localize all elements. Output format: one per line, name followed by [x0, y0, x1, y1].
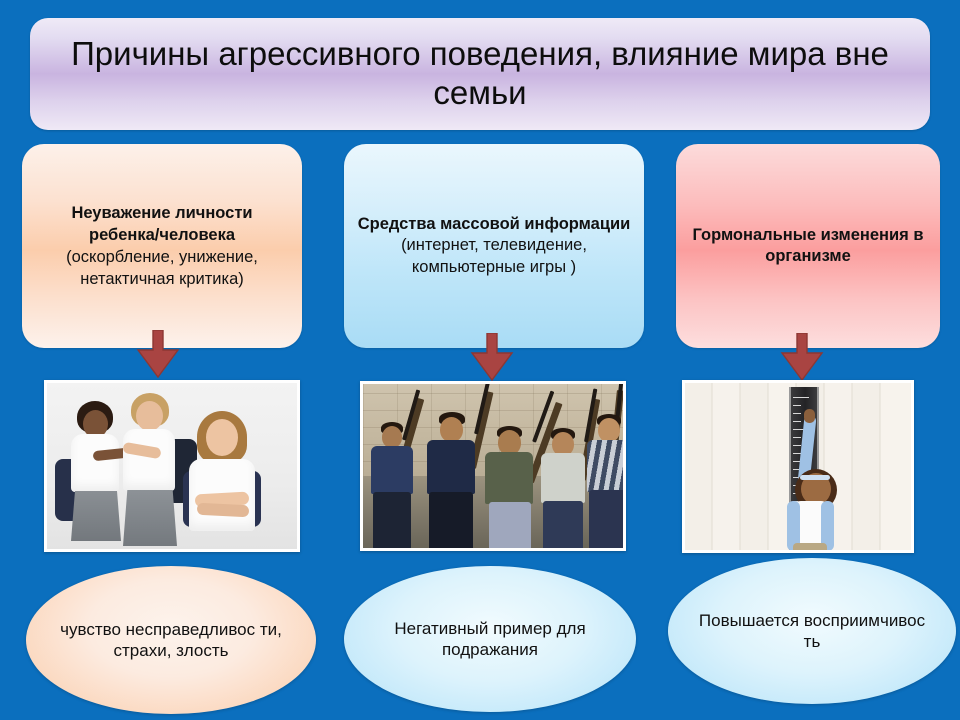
slide-title-box: Причины агрессивного поведения, влияние … [30, 18, 930, 130]
cause-card-hormonal-bold: Гормональные изменения в организме [692, 226, 923, 265]
cause-card-disrespect: Неуважение личности ребенка/человека (ос… [22, 144, 302, 348]
cause-card-hormonal: Гормональные изменения в организме [676, 144, 940, 348]
outcome-increased-sensitivity: Повышается восприимчивос ть [668, 558, 956, 704]
arrow-down-icon [469, 333, 515, 381]
outcome-negative-role-model-text: Негативный пример для подражания [370, 618, 610, 661]
slide-canvas: Причины агрессивного поведения, влияние … [0, 0, 960, 720]
arrow-down-icon [135, 330, 181, 378]
photo-armed-men [360, 381, 626, 551]
outcome-injustice-fear-anger: чувство несправедливос ти, страхи, злост… [26, 566, 316, 714]
outcome-negative-role-model: Негативный пример для подражания [344, 566, 636, 712]
cause-card-disrespect-detail: (оскорбление, унижение, нетактичная крит… [66, 248, 258, 288]
cause-card-disrespect-bold: Неуважение личности ребенка/человека [71, 204, 252, 244]
cause-card-mass-media-detail: (интернет, телевидение, компьютерные игр… [401, 236, 587, 275]
cause-card-mass-media-bold: Средства массовой информации [358, 215, 631, 233]
outcome-injustice-fear-anger-text: чувство несправедливос ти, страхи, злост… [52, 619, 290, 662]
cause-card-mass-media: Средства массовой информации (интернет, … [344, 144, 644, 348]
cause-card-disrespect-text: Неуважение личности ребенка/человека (ос… [35, 202, 289, 290]
photo-girl-measuring-height [682, 380, 914, 553]
cause-card-hormonal-text: Гормональные изменения в организме [689, 225, 927, 268]
page-title: Причины агрессивного поведения, влияние … [52, 35, 908, 113]
cause-card-mass-media-text: Средства массовой информации (интернет, … [357, 214, 631, 278]
arrow-down-icon [779, 333, 825, 381]
outcome-increased-sensitivity-text: Повышается восприимчивос ть [694, 610, 930, 653]
photo-schoolgirls-bullying [44, 380, 300, 552]
